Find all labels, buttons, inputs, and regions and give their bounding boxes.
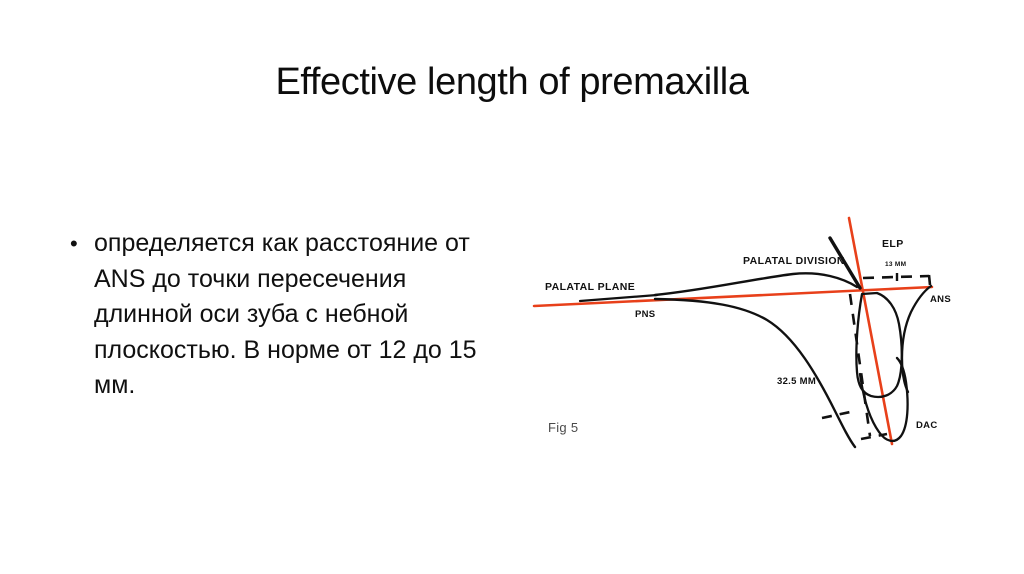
label-dac: DAC (916, 420, 937, 431)
page-title: Effective length of premaxilla (0, 58, 1024, 106)
label-pns: PNS (635, 309, 655, 320)
body-text-block: • определяется как расстояние от ANS до … (70, 226, 490, 404)
list-item-label: определяется как расстояние от ANS до то… (94, 226, 490, 404)
bullet-icon: • (70, 226, 94, 262)
figure-caption: Fig 5 (548, 420, 578, 435)
thirteen-mm-bracket (863, 273, 930, 285)
label-13mm: 13 MM (885, 261, 906, 268)
label-ans: ANS (930, 294, 951, 305)
label-32-5mm: 32.5 MM (777, 376, 816, 387)
label-palatal-plane: PALATAL PLANE (545, 281, 635, 293)
label-elp: ELP (882, 238, 904, 250)
label-palatal-division: PALATAL DIVISION (743, 255, 845, 267)
slide-canvas: Effective length of premaxilla • определ… (0, 0, 1024, 574)
ans-outline (902, 286, 931, 392)
palate-lower-outline (655, 299, 855, 447)
list-item: • определяется как расстояние от ANS до … (70, 226, 490, 404)
elp-red-line (849, 218, 892, 444)
cephalometric-figure: PALATAL PLANE PNS PALATAL DIVISION ELP 1… (505, 196, 1005, 476)
